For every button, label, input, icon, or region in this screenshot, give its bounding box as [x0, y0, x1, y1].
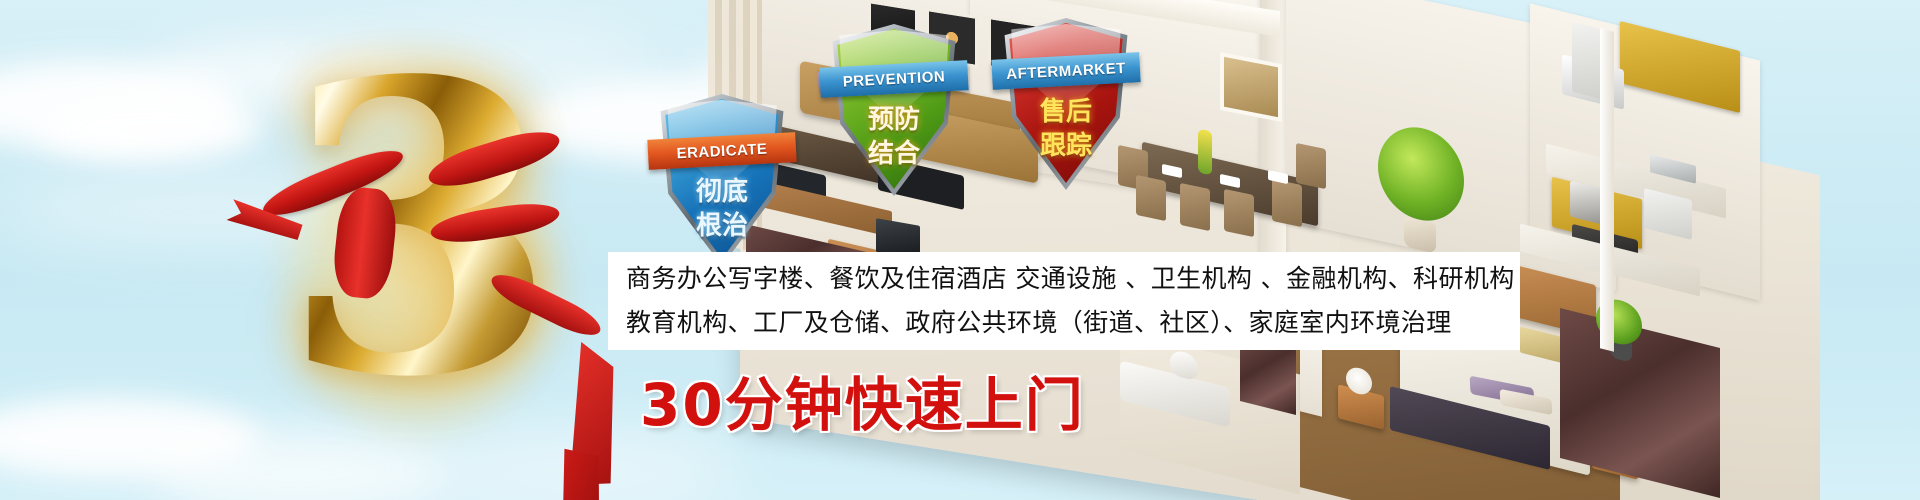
dining-chair	[1296, 143, 1326, 189]
dining-chair	[1272, 179, 1302, 227]
wall-edge-highlight	[1600, 28, 1614, 351]
partition-wall	[1260, 0, 1286, 295]
dining-chair	[1180, 183, 1210, 231]
headline-text: 30分钟快速上门	[640, 358, 1085, 442]
badge-english-label: AFTERMARKET	[1006, 59, 1126, 82]
badge-english-label: ERADICATE	[676, 140, 768, 162]
service-scope-line-1: 商务办公写字楼、餐饮及住宿酒店 交通设施 、卫生机构 、金融机构、科研机构	[626, 257, 1502, 301]
badge-chinese-line2: 根治	[658, 212, 786, 241]
badge-english-label: PREVENTION	[842, 68, 945, 90]
badge-chinese-line1: 售后	[1002, 98, 1130, 127]
service-scope-panel: 商务办公写字楼、餐饮及住宿酒店 交通设施 、卫生机构 、金融机构、科研机构 教育…	[608, 252, 1520, 350]
badge-chinese-line2: 跟踪	[1002, 132, 1130, 161]
badge-aftermarket: 售后 跟踪 AFTERMARKET	[1002, 18, 1130, 190]
hero-number-3: 3	[240, 60, 600, 480]
badge-prevention: 预防 结合 PREVENTION	[830, 24, 958, 196]
dining-chair	[1224, 189, 1254, 237]
badge-chinese-line1: 预防	[830, 106, 958, 135]
wall-portrait	[1220, 52, 1282, 122]
service-scope-line-2: 教育机构、工厂及仓储、政府公共环境（街道、社区）、家庭室内环境治理	[626, 301, 1502, 345]
badge-eradicate: 彻底 根治 ERADICATE	[658, 94, 786, 266]
dining-chair	[1136, 175, 1166, 221]
badge-chinese-line2: 结合	[830, 140, 958, 169]
badge-chinese-line1: 彻底	[658, 178, 786, 207]
table-centerpiece	[1198, 129, 1212, 175]
promo-banner: 3 彻底 根治 ERADICATE 预防 结合 PREVENTION 售后	[0, 0, 1920, 500]
